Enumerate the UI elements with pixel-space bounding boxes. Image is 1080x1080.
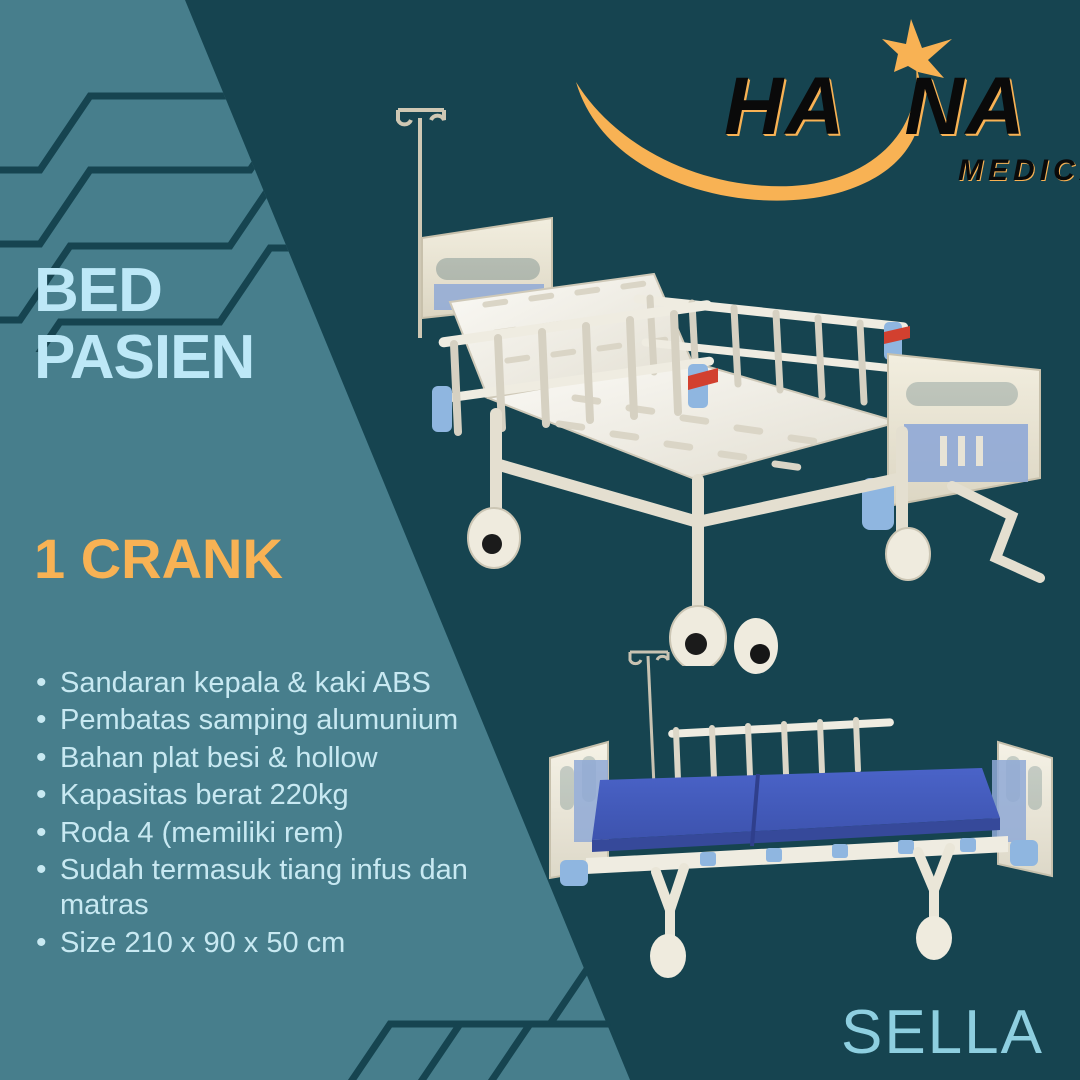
side-rail-secondary: [668, 718, 894, 780]
footboard-abs: [862, 354, 1040, 530]
list-item: Kapasitas berat 220kg: [28, 778, 488, 813]
bed-frame-secondary: [560, 836, 1038, 942]
detached-caster-icon: [734, 618, 778, 674]
list-item: Sudah termasuk tiang infus dan matras: [28, 853, 488, 924]
product-photo-main: Alkestore: [392, 86, 1064, 666]
brand-name-sella: SELLA: [841, 1002, 1044, 1064]
crank-handle: [952, 486, 1040, 578]
list-item: Pembatas samping alumunium: [28, 703, 488, 738]
blue-mattress: [592, 768, 1000, 852]
feature-list: Sandaran kepala & kaki ABS Pembatas samp…: [28, 666, 488, 963]
poster-canvas: BED PASIEN 1 CRANK Sandaran kepala & kak…: [0, 0, 1080, 1080]
page-title: BED PASIEN: [34, 258, 374, 392]
list-item: Bahan plat besi & hollow: [28, 741, 488, 776]
iv-pole-icon-secondary: [630, 652, 668, 786]
subtitle-crank: 1 CRANK: [34, 531, 283, 587]
hospital-bed-illustration-blue-mattress: [530, 608, 1074, 998]
headline-line-2: PASIEN: [34, 325, 374, 392]
hospital-bed-illustration-angled: [392, 86, 1064, 666]
headline-line-1: BED: [34, 256, 162, 325]
list-item: Roda 4 (memiliki rem): [28, 816, 488, 851]
list-item: Sandaran kepala & kaki ABS: [28, 666, 488, 701]
caster-wheels-secondary: [650, 916, 952, 978]
list-item: Size 210 x 90 x 50 cm: [28, 926, 488, 961]
product-photo-secondary: [530, 608, 1074, 998]
